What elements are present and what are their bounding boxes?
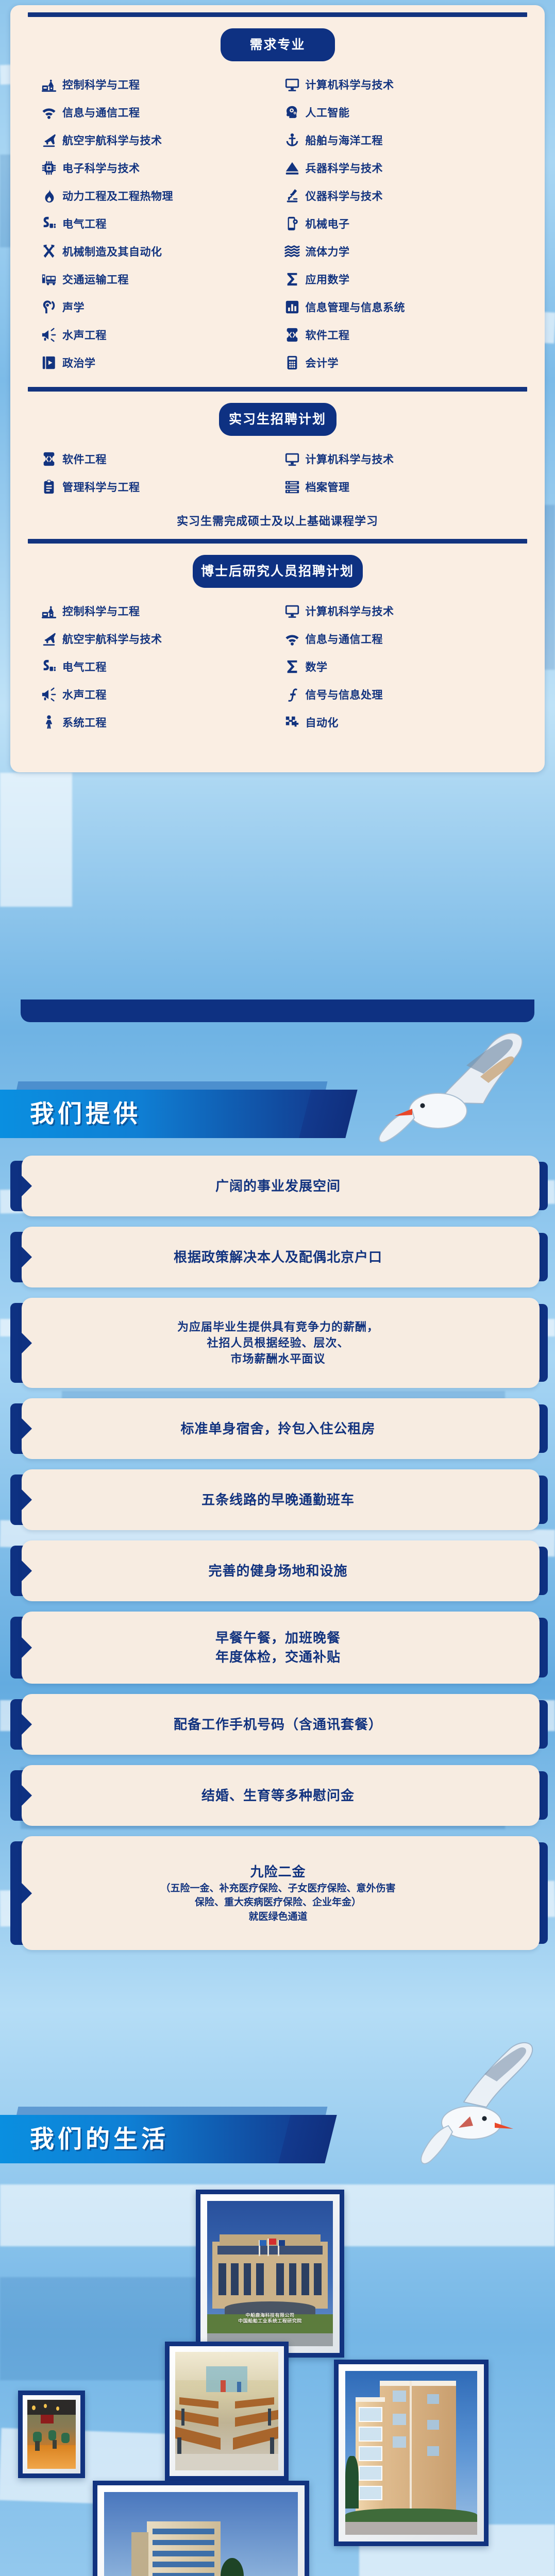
section-title-intern: 实习生招聘计划 <box>219 403 337 436</box>
major-item[interactable]: 人工智能 <box>284 98 528 126</box>
major-item[interactable]: 声学 <box>41 293 284 321</box>
postdoc-label: 系统工程 <box>62 715 107 730</box>
section-title-majors: 需求专业 <box>221 28 335 61</box>
benefit-card[interactable]: 为应届毕业生提供具有竞争力的薪酬， 社招人员根据经验、层次、 市场薪酬水平面议 <box>22 1298 540 1388</box>
bar-chart-icon <box>284 299 300 315</box>
major-item[interactable]: 会计学 <box>284 349 528 377</box>
requirements-card: 需求专业 控制科学与工程 计算机科学与技术 信息与通信工程 人工智能 航空宇航科… <box>10 5 545 772</box>
intern-label: 管理科学与工程 <box>62 479 140 495</box>
monitor-icon <box>284 77 300 92</box>
intern-item[interactable]: 管理科学与工程 <box>41 473 284 501</box>
postdoc-item[interactable]: 数学 <box>284 653 528 681</box>
major-item[interactable]: 软件工程 <box>284 321 528 349</box>
wifi-icon <box>41 105 57 120</box>
card-right-tab <box>530 1618 548 1677</box>
benefit-card[interactable]: 完善的健身场地和设施 <box>22 1540 540 1601</box>
card-notch <box>22 1418 32 1439</box>
speaker-icon <box>41 327 57 343</box>
major-item[interactable]: 兵器科学与技术 <box>284 154 528 182</box>
postdoc-label: 控制科学与工程 <box>62 603 140 619</box>
intern-item[interactable]: 计算机科学与技术 <box>284 445 528 473</box>
major-label: 软件工程 <box>306 327 350 343</box>
intern-label: 计算机科学与技术 <box>306 451 394 467</box>
photo-frame[interactable] <box>18 2391 85 2478</box>
major-item[interactable]: 电子科学与技术 <box>41 154 284 182</box>
postdoc-label: 电气工程 <box>62 659 107 674</box>
code-brackets-icon <box>41 451 57 467</box>
benefit-card[interactable]: 五条线路的早晚通勤班车 <box>22 1469 540 1530</box>
bg-streak <box>0 773 72 907</box>
major-label: 政治学 <box>62 355 96 370</box>
major-item[interactable]: 船舶与海洋工程 <box>284 126 528 154</box>
benefit-card[interactable]: 结婚、生育等多种慰问金 <box>22 1765 540 1826</box>
postdoc-item[interactable]: 自动化 <box>284 708 528 736</box>
major-item[interactable]: 动力工程及工程热物理 <box>41 182 284 210</box>
card-notch <box>22 1333 32 1353</box>
airplane-icon <box>41 631 57 647</box>
major-item[interactable]: 信息与通信工程 <box>41 98 284 126</box>
major-label: 应用数学 <box>306 272 350 287</box>
major-item[interactable]: 电气工程 <box>41 210 284 238</box>
life-banner-title: 我们的生活 <box>30 2115 169 2163</box>
postdoc-item[interactable]: 电气工程 <box>41 653 284 681</box>
phone-gear-icon <box>284 216 300 231</box>
intern-grid: 软件工程 计算机科学与技术 管理科学与工程 档案管理 <box>10 436 545 508</box>
benefit-text: 广阔的事业发展空间 <box>193 1167 368 1205</box>
plug-icon <box>41 659 57 674</box>
play-book-icon <box>41 355 57 370</box>
benefit-text: 完善的健身场地和设施 <box>186 1552 375 1590</box>
major-label: 信息管理与信息系统 <box>306 299 406 315</box>
insurance-detail: （五险一金、补充医疗保险、子女医疗保险、意外伤害 保险、重大疾病医疗保险、企业年… <box>160 1882 395 1924</box>
major-item[interactable]: 控制科学与工程 <box>41 71 284 98</box>
card-right-tab <box>530 1700 548 1749</box>
major-label: 机械电子 <box>306 216 350 231</box>
card-notch <box>22 1637 32 1658</box>
microscope-icon <box>284 188 300 204</box>
postdoc-item[interactable]: 计算机科学与技术 <box>284 597 528 625</box>
server-rack-icon <box>284 479 300 495</box>
airplane-icon <box>41 132 57 148</box>
control-robot-icon <box>41 77 57 92</box>
card-notch <box>22 1561 32 1581</box>
flame-icon <box>41 188 57 204</box>
major-label: 控制科学与工程 <box>62 77 140 92</box>
card-right-tab <box>530 1771 548 1820</box>
major-item[interactable]: 流体力学 <box>284 238 528 265</box>
card-notch <box>22 1489 32 1510</box>
major-item[interactable]: 应用数学 <box>284 265 528 293</box>
postdoc-label: 航空宇航科学与技术 <box>62 631 162 647</box>
benefit-text: 早餐午餐，加班晚餐 年度体检，交通补贴 <box>193 1619 368 1676</box>
major-label: 计算机科学与技术 <box>306 77 394 92</box>
benefit-card-insurance[interactable]: 九险二金 （五险一金、补充医疗保险、子女医疗保险、意外伤害 保险、重大疾病医疗保… <box>22 1836 540 1950</box>
benefit-text: 配备工作手机号码（含通讯套餐） <box>151 1706 410 1743</box>
card-notch <box>22 1176 32 1196</box>
benefit-card[interactable]: 早餐午餐，加班晚餐 年度体检，交通补贴 <box>22 1612 540 1684</box>
chip-icon <box>41 160 57 176</box>
intern-note: 实习生需完成硕士及以上基础课程学习 <box>10 508 545 539</box>
benefit-text: 为应届毕业生提供具有竞争力的薪酬， 社招人员根据经验、层次、 市场薪酬水平面议 <box>155 1310 407 1377</box>
divider-intern-postdoc <box>28 539 527 544</box>
section-title-postdoc: 博士后研究人员招聘计划 <box>193 555 363 588</box>
bus-icon <box>41 272 57 287</box>
majors-grid: 控制科学与工程 计算机科学与技术 信息与通信工程 人工智能 航空宇航科学与技术 … <box>10 61 545 384</box>
photo-frame[interactable] <box>93 2481 309 2576</box>
intern-item[interactable]: 软件工程 <box>41 445 284 473</box>
postdoc-label: 数学 <box>306 659 328 674</box>
major-item[interactable]: 水声工程 <box>41 321 284 349</box>
major-item[interactable]: 交通运输工程 <box>41 265 284 293</box>
benefit-text: 五条线路的早晚通勤班车 <box>179 1481 382 1519</box>
benefit-card[interactable]: 配备工作手机号码（含通讯套餐） <box>22 1694 540 1755</box>
major-label: 航空宇航科学与技术 <box>62 132 162 148</box>
offer-banner-title: 我们提供 <box>30 1090 141 1138</box>
automation-icon <box>284 715 300 730</box>
speaker-icon <box>41 687 57 702</box>
major-item[interactable]: 机械电子 <box>284 210 528 238</box>
sigma-icon <box>284 659 300 674</box>
major-label: 船舶与海洋工程 <box>306 132 383 148</box>
photo-mat <box>23 2395 80 2473</box>
major-label: 声学 <box>62 299 85 315</box>
major-label: 会计学 <box>306 355 339 370</box>
monitor-icon <box>284 451 300 467</box>
brain-gear-icon <box>284 105 300 120</box>
major-label: 仪器科学与技术 <box>306 188 383 204</box>
life-banner: 我们的生活 <box>0 2115 555 2163</box>
postdoc-item[interactable]: 系统工程 <box>41 708 284 736</box>
major-item[interactable]: 仪器科学与技术 <box>284 182 528 210</box>
plug-icon <box>41 216 57 231</box>
postdoc-label: 自动化 <box>306 715 339 730</box>
life-photo-gallery: 中船鹿海科技有限公司 中国船舶工业系统工程研究院 <box>0 2172 555 2576</box>
waves-icon <box>284 244 300 259</box>
major-label: 水声工程 <box>62 327 107 343</box>
photo-frame[interactable]: 中船鹿海科技有限公司 中国船舶工业系统工程研究院 <box>196 2190 344 2358</box>
insurance-title: 九险二金 <box>250 1864 306 1879</box>
cafe-lounge-photo <box>27 2400 76 2469</box>
postdoc-label: 水声工程 <box>62 687 107 702</box>
benefits-list: 广阔的事业发展空间 根据政策解决本人及配偶北京户口 为应届毕业生提供具有竞争力的… <box>0 1141 555 1965</box>
card-right-tab <box>530 1404 548 1453</box>
photo-frame[interactable] <box>334 2360 489 2546</box>
staff-canteen-photo <box>175 2352 278 2470</box>
photo-mat <box>97 2485 305 2576</box>
postdoc-label: 信息与通信工程 <box>306 631 383 647</box>
major-item[interactable]: 计算机科学与技术 <box>284 71 528 98</box>
sigma-icon <box>284 272 300 287</box>
divider-top <box>28 12 527 17</box>
benefit-card[interactable]: 广阔的事业发展空间 <box>22 1156 540 1216</box>
card-base-shadow <box>21 999 534 1022</box>
major-label: 交通运输工程 <box>62 272 129 287</box>
ear-sound-icon <box>41 299 57 315</box>
card-right-tab <box>530 1304 548 1382</box>
photo-mat <box>170 2346 284 2476</box>
major-item[interactable]: 机械制造及其自动化 <box>41 238 284 265</box>
card-notch <box>22 1883 32 1904</box>
office-tower-photo <box>104 2492 298 2576</box>
missile-icon <box>284 160 300 176</box>
benefit-card[interactable]: 根据政策解决本人及配偶北京户口 <box>22 1227 540 1287</box>
person-icon <box>41 715 57 730</box>
major-label: 兵器科学与技术 <box>306 160 383 176</box>
card-notch <box>22 1714 32 1735</box>
benefit-text: 标准单身宿舍，拎包入住公租房 <box>158 1410 403 1448</box>
intern-label: 软件工程 <box>62 451 107 467</box>
benefit-card[interactable]: 标准单身宿舍，拎包入住公租房 <box>22 1398 540 1459</box>
postdoc-item[interactable]: 信息与通信工程 <box>284 625 528 653</box>
major-label: 信息与通信工程 <box>62 105 140 120</box>
photo-frame[interactable] <box>165 2342 289 2481</box>
major-label: 电子科学与技术 <box>62 160 140 176</box>
benefit-text: 结婚、生育等多种慰问金 <box>179 1777 382 1815</box>
major-label: 动力工程及工程热物理 <box>62 188 173 204</box>
photo-mat <box>339 2364 484 2541</box>
dormitory-building-photo <box>345 2371 477 2535</box>
anchor-icon <box>284 132 300 148</box>
major-label: 电气工程 <box>62 216 107 231</box>
major-label: 机械制造及其自动化 <box>62 244 162 259</box>
postdoc-item[interactable]: 信号与信息处理 <box>284 681 528 708</box>
photo-mat: 中船鹿海科技有限公司 中国船舶工业系统工程研究院 <box>200 2194 340 2353</box>
photo-caption: 中船鹿海科技有限公司 中国船舶工业系统工程研究院 <box>207 2313 333 2325</box>
major-item[interactable]: 信息管理与信息系统 <box>284 293 528 321</box>
postdoc-item[interactable]: 控制科学与工程 <box>41 597 284 625</box>
major-label: 流体力学 <box>306 244 350 259</box>
intern-label: 档案管理 <box>306 479 350 495</box>
code-brackets-icon <box>284 327 300 343</box>
clipboard-icon <box>41 479 57 495</box>
major-label: 人工智能 <box>306 105 350 120</box>
postdoc-label: 计算机科学与技术 <box>306 603 394 619</box>
wifi-icon <box>284 631 300 647</box>
signal-f-icon <box>284 687 300 702</box>
wrench-screwdriver-icon <box>41 244 57 259</box>
headquarters-building-photo: 中船鹿海科技有限公司 中国船舶工业系统工程研究院 <box>207 2201 333 2346</box>
monitor-icon <box>284 603 300 619</box>
offer-banner: 我们提供 <box>0 1090 555 1138</box>
benefit-text: 根据政策解决本人及配偶北京户口 <box>151 1239 410 1276</box>
card-notch <box>22 1247 32 1267</box>
major-item[interactable]: 航空宇航科学与技术 <box>41 126 284 154</box>
card-right-tab <box>530 1842 548 1944</box>
card-right-tab <box>530 1547 548 1595</box>
intern-item[interactable]: 档案管理 <box>284 473 528 501</box>
card-right-tab <box>530 1162 548 1210</box>
postdoc-item[interactable]: 航空宇航科学与技术 <box>41 625 284 653</box>
postdoc-grid: 控制科学与工程 计算机科学与技术 航空宇航科学与技术 信息与通信工程 电气工程 … <box>10 588 545 743</box>
postdoc-label: 信号与信息处理 <box>306 687 383 702</box>
calculator-icon <box>284 355 300 370</box>
card-notch <box>22 1785 32 1806</box>
major-item[interactable]: 政治学 <box>41 349 284 377</box>
postdoc-item[interactable]: 水声工程 <box>41 681 284 708</box>
card-right-tab <box>530 1233 548 1281</box>
control-robot-icon <box>41 603 57 619</box>
divider-majors-intern <box>28 387 527 392</box>
card-right-tab <box>530 1476 548 1524</box>
